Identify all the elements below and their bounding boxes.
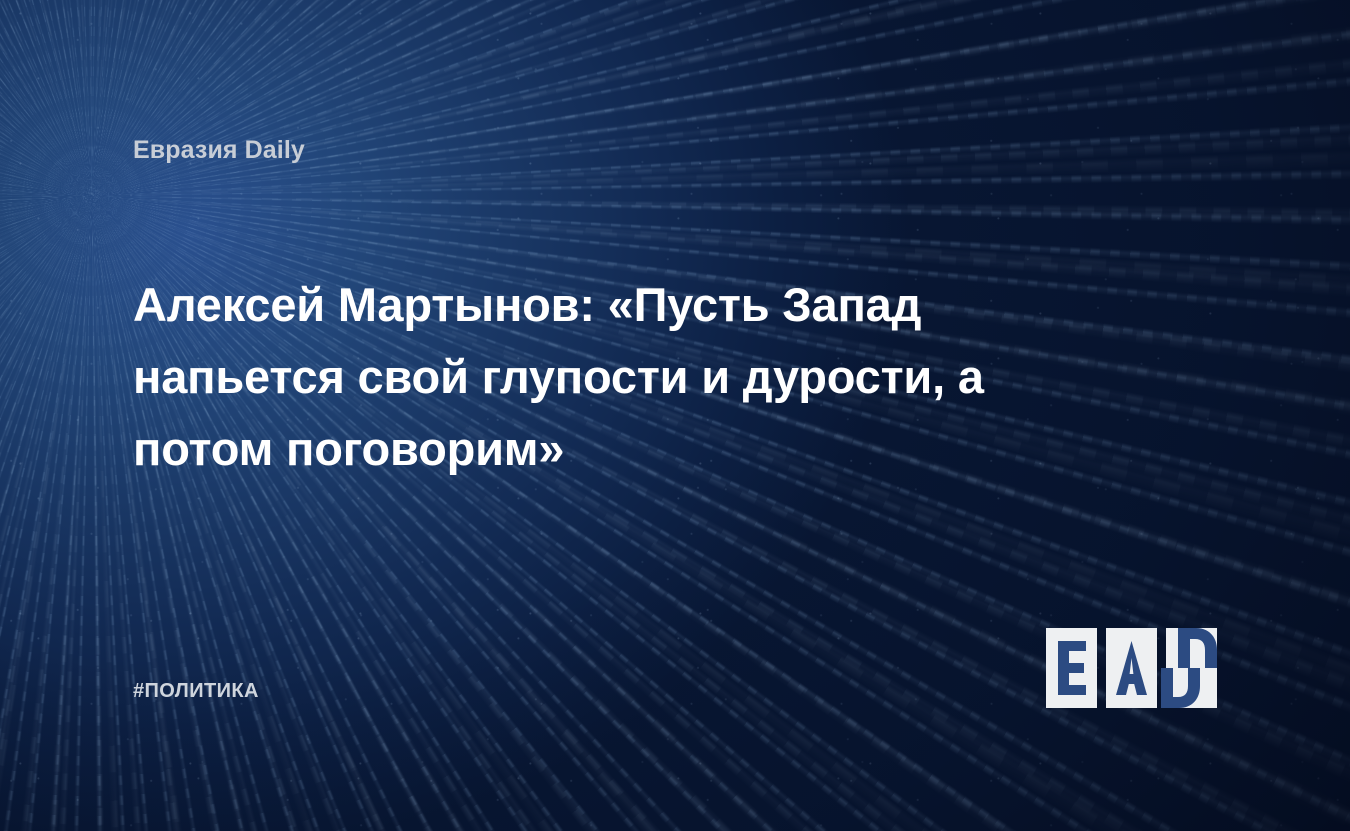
news-share-card: Евразия Daily Алексей Мартынов: «Пусть З… [0,0,1350,831]
letter-a-icon [1106,628,1157,708]
logo-tile-d-top-half [1166,628,1217,668]
logo-tile-d [1166,628,1217,708]
ead-logo [1046,628,1218,708]
logo-tile-e [1046,628,1097,708]
letter-d-lower-icon [1157,668,1208,708]
logo-tile-d-bottom-half [1166,668,1217,708]
logo-tile-a [1106,628,1157,708]
rubric-hashtag: #ПОЛИТИКА [133,680,259,703]
brand-wordmark: Евразия Daily [133,136,305,165]
letter-d-upper-icon [1174,628,1225,668]
letter-e-icon [1046,628,1097,708]
card-content: Евразия Daily Алексей Мартынов: «Пусть З… [0,0,1350,831]
headline-text: Алексей Мартынов: «Пусть Запад напьется … [133,269,1083,485]
